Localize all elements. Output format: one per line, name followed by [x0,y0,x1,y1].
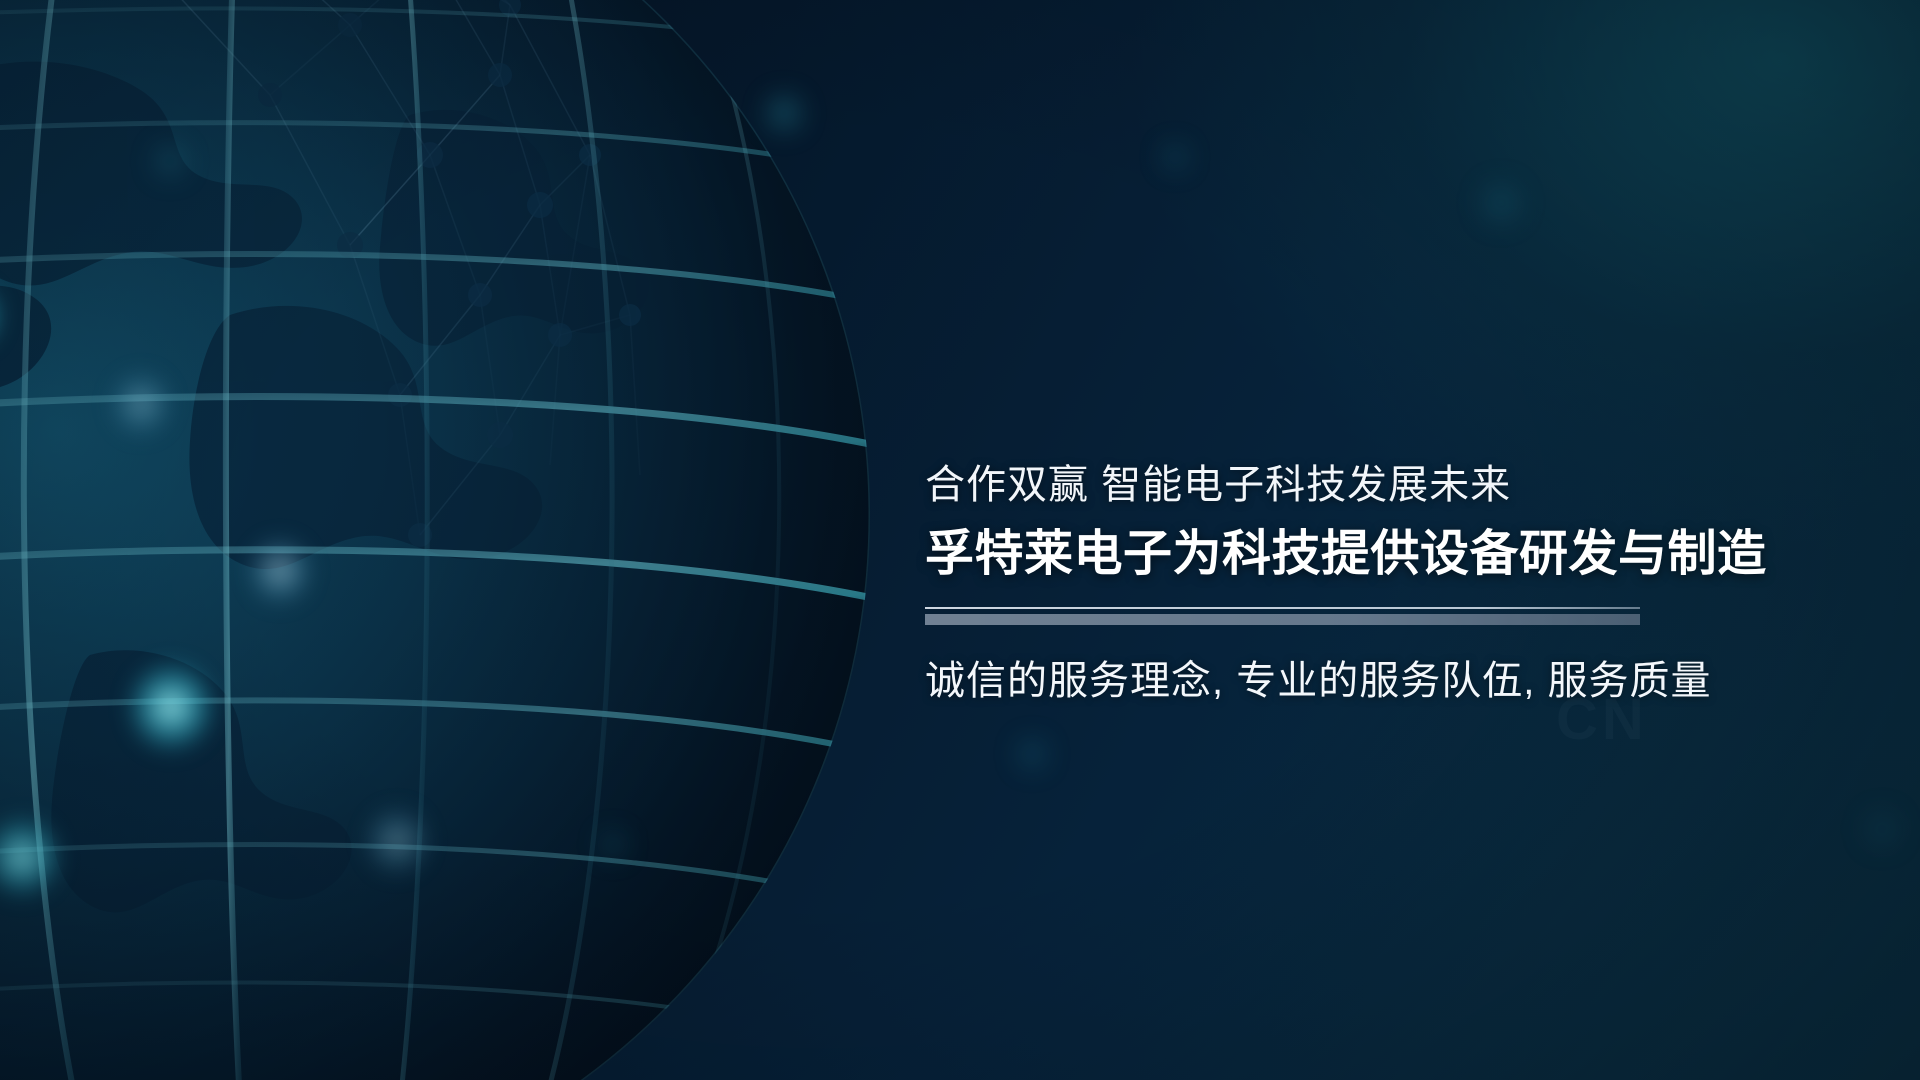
divider-hairline [925,607,1640,609]
eyebrow-text: 合作双赢 智能电子科技发展未来 [925,462,1905,509]
hero-copy-block: 合作双赢 智能电子科技发展未来 孚特莱电子为科技提供设备研发与制造 诚信的服务理… [925,462,1905,705]
divider [925,607,1640,621]
tagline-text: 诚信的服务理念, 专业的服务队伍, 服务质量 [925,657,1905,705]
headline-text: 孚特莱电子为科技提供设备研发与制造 [925,527,1905,583]
divider-bar [925,614,1640,625]
hero-banner: CN 合作双赢 智能电子科技发展未来 孚特莱电子为科技提供设备研发与制造 诚信的… [0,0,1920,1080]
